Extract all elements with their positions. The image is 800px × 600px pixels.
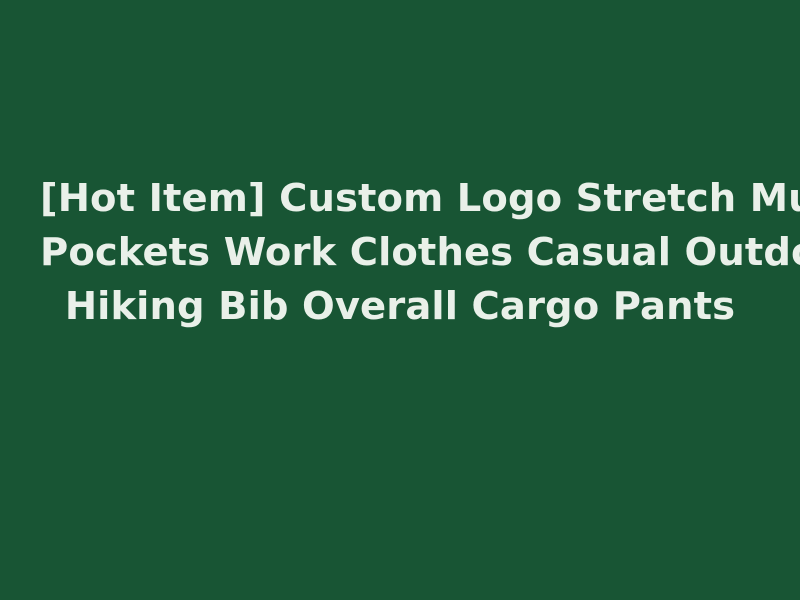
product-title-line-3: Hiking Bib Overall Cargo Pants (40, 280, 760, 334)
product-title-line-2: Pockets Work Clothes Casual Outdoor (40, 226, 760, 280)
product-title-card: [Hot Item] Custom Logo Stretch Multi Poc… (0, 0, 800, 600)
product-title: [Hot Item] Custom Logo Stretch Multi Poc… (40, 172, 760, 334)
product-title-line-1: [Hot Item] Custom Logo Stretch Multi (40, 172, 760, 226)
